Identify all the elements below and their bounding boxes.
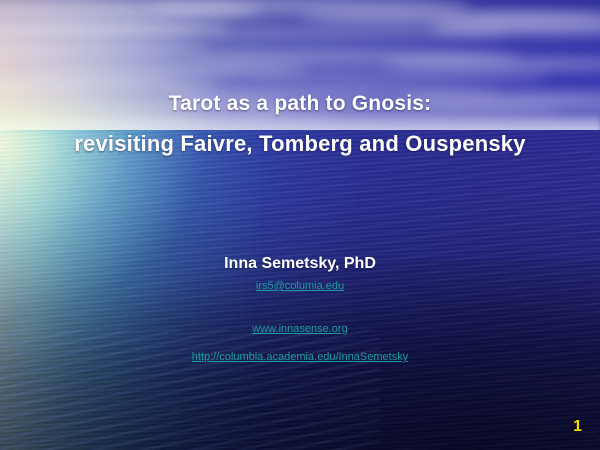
slide-content: Tarot as a path to Gnosis: revisiting Fa…	[0, 0, 600, 450]
author-email-row: irs5@columia.edu	[0, 276, 600, 295]
links-block: www.innasense.org http://columbia.academ…	[0, 319, 600, 366]
page-number: 1	[573, 418, 582, 436]
author-email-link[interactable]: irs5@columia.edu	[256, 278, 344, 295]
academia-profile-link[interactable]: http://columbia.academia.edu/InnaSemetsk…	[192, 349, 408, 366]
title-line-2: revisiting Faivre, Tomberg and Ouspensky	[0, 124, 600, 164]
author-block: Inna Semetsky, PhD irs5@columia.edu	[0, 253, 600, 295]
author-name: Inna Semetsky, PhD	[0, 253, 600, 274]
title-line-1: Tarot as a path to Gnosis:	[0, 84, 600, 124]
presentation-slide: Tarot as a path to Gnosis: revisiting Fa…	[0, 0, 600, 450]
academia-link-row: http://columbia.academia.edu/InnaSemetsk…	[0, 347, 600, 366]
slide-title: Tarot as a path to Gnosis: revisiting Fa…	[0, 84, 600, 164]
website-link[interactable]: www.innasense.org	[252, 321, 347, 338]
website-link-row: www.innasense.org	[0, 319, 600, 338]
